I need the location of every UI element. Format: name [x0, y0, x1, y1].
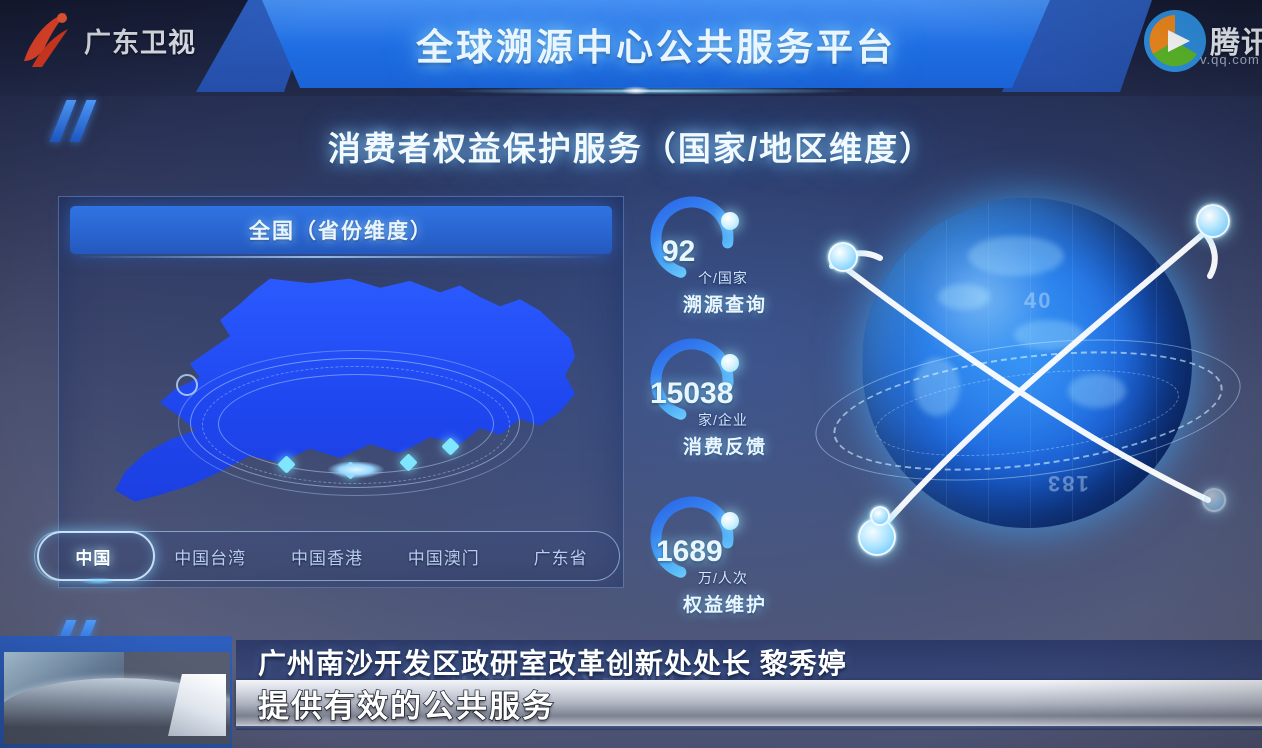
- broadcaster-logo: 广东卫视: [18, 8, 232, 72]
- caption-bottom-strip: [236, 726, 1262, 730]
- pip-video-frame: [4, 652, 230, 744]
- gauge-end-dot: [721, 212, 739, 230]
- speaker-title-name: 广州南沙开发区政研室改革创新处处长 黎秀婷: [258, 642, 847, 682]
- region-tab-bar[interactable]: 中国 中国台湾 中国香港 中国澳门 广东省: [34, 531, 620, 581]
- decor-slashes-top: [52, 100, 122, 142]
- map-location-marker: [176, 374, 198, 396]
- gauge-unit: 个/国家: [698, 268, 748, 288]
- globe-node-marker-top-left[interactable]: [828, 242, 858, 272]
- map-base-glow: [320, 462, 392, 484]
- kpi-gauge-rights-protection[interactable]: 1689 万/人次 权益维护: [636, 492, 816, 622]
- globe-node-marker-bottom-left-small: [870, 506, 890, 526]
- gauge-value: 15038: [650, 377, 790, 411]
- world-globe-visualization[interactable]: 40 183: [818, 188, 1238, 588]
- kpi-gauge-consumer-feedback[interactable]: 15038 家/企业 消费反馈: [636, 334, 816, 464]
- guangdong-province-map[interactable]: [72, 262, 612, 524]
- gdtv-swoosh-icon: [18, 11, 78, 69]
- tab-taiwan[interactable]: 中国台湾: [152, 538, 269, 575]
- globe-node-marker-bottom-right[interactable]: [1202, 488, 1226, 512]
- platform-url: v.qq.com: [1200, 52, 1262, 67]
- gauge-value: 92: [662, 235, 802, 269]
- page-title: 全球溯源中心公共服务平台: [222, 0, 1090, 88]
- live-video-thumbnail[interactable]: [0, 636, 232, 748]
- gauge-unit: 万/人次: [698, 568, 748, 588]
- tab-hongkong[interactable]: 中国香港: [269, 538, 386, 575]
- kpi-gauge-traceability-query[interactable]: 92 个/国家 溯源查询: [636, 192, 816, 322]
- tab-macau[interactable]: 中国澳门: [385, 538, 502, 575]
- active-tab-highlight: [37, 531, 155, 581]
- header-glow-core: [615, 84, 657, 97]
- broadcast-screen: 全球溯源中心公共服务平台 广东卫视 腾讯 v.qq.com 消费者权益保护服务（…: [0, 0, 1262, 748]
- caption-subtitle-text: 提供有效的公共服务: [258, 680, 555, 726]
- broadcaster-name: 广东卫视: [84, 21, 196, 60]
- gauge-value: 1689: [656, 535, 796, 569]
- tab-guangdong[interactable]: 广东省: [502, 538, 619, 575]
- province-panel-header: 全国（省份维度）: [70, 206, 612, 254]
- active-tab-glow: [73, 576, 123, 586]
- gauge-unit: 家/企业: [698, 410, 748, 430]
- gauge-label: 消费反馈: [650, 432, 800, 459]
- gauge-label: 溯源查询: [650, 290, 800, 317]
- gauge-end-dot: [721, 354, 739, 372]
- province-panel-divider: [78, 256, 604, 258]
- gauge-end-dot: [721, 512, 739, 530]
- section-subtitle: 消费者权益保护服务（国家/地区维度）: [0, 118, 1262, 174]
- gauge-label: 权益维护: [650, 590, 800, 617]
- map-ring-inner: [218, 374, 494, 474]
- kpi-gauge-group: 92 个/国家 溯源查询 15038 家: [636, 192, 816, 612]
- globe-node-marker-top-right[interactable]: [1196, 204, 1230, 238]
